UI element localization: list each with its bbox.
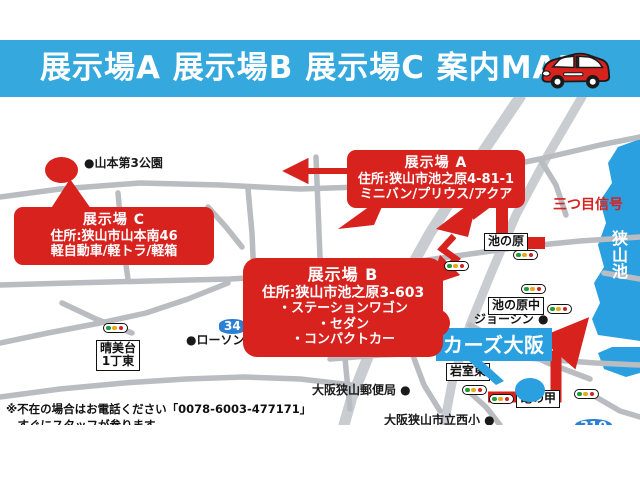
header-bar: 展示場A 展示場B 展示場C 案内MAP (0, 40, 640, 97)
red-car-icon (536, 48, 612, 90)
callout-exhibition-a[interactable]: 展示場 A 住所:狭山市池之原4-81-1 ミニバン/プリウス/アクア (347, 150, 525, 208)
callout-b-item-2: ・コンパクトカー (253, 332, 433, 347)
footer-note: ※不在の場合はお電話ください「0078-6003-477171」 すぐにスタッフ… (6, 402, 311, 425)
traffic-signal-harumidai (103, 323, 128, 333)
callout-exhibition-b[interactable]: 展示場 B 住所:狭山市池之原3-603 ・ステーションワゴン ・セダン ・コン… (243, 258, 443, 357)
traffic-signal-ikenohara (513, 250, 538, 260)
cars-osaka-pointer (460, 345, 530, 387)
harumidai-line-2: 1丁東 (102, 354, 134, 368)
label-harumidai-1cho-higashi: 晴美台 1丁東 (96, 340, 140, 371)
callout-a-title: 展示場 A (357, 155, 515, 172)
note-line-1: ※不在の場合はお電話ください「0078-6003-477171」 (6, 402, 311, 416)
label-post-office: 大阪狭山郵便局 ● (312, 384, 411, 397)
traffic-signal-joshin (547, 304, 572, 314)
label-yamamoto-park: ●山本第3公園 (84, 157, 163, 170)
callout-c-title: 展示場 C (24, 212, 204, 229)
harumidai-line-1: 晴美台 (100, 341, 136, 355)
map-canvas: 展示場 A 住所:狭山市池之原4-81-1 ミニバン/プリウス/アクア 展示場 … (0, 97, 640, 425)
callout-a-address: 住所:狭山市池之原4-81-1 (357, 172, 515, 187)
callout-b-title: 展示場 B (253, 266, 433, 285)
label-sayamaike: 狭山池 (607, 231, 633, 281)
callout-c-address: 住所:狭山市山本南46 (24, 229, 204, 244)
label-ikenohara: 池の原 (484, 233, 528, 251)
label-third-signal: 三つ目信号 (553, 194, 623, 214)
label-west-elementary: 大阪狭山市立西小 ● (384, 414, 495, 425)
callout-b-address: 住所:狭山市池之原3-603 (253, 285, 433, 302)
label-lawson: ●ローソン (186, 334, 244, 347)
poster-content: 展示場A 展示場B 展示場C 案内MAP (0, 40, 640, 425)
callout-a-item-0: ミニバン/プリウス/アクア (357, 187, 515, 202)
traffic-signal-iwamuro (489, 394, 514, 404)
traffic-signal-kamenoko (574, 389, 599, 399)
label-ikenohara-naka: 池の原中 (488, 297, 544, 315)
traffic-signal-ikenohara-naka (521, 284, 546, 294)
callout-c-item-0: 軽自動車/軽トラ/軽箱 (24, 244, 204, 259)
page-title: 展示場A 展示場B 展示場C 案内MAP (40, 47, 581, 90)
callout-b-item-1: ・セダン (253, 317, 433, 332)
callout-b-item-0: ・ステーションワゴン (253, 301, 433, 316)
traffic-signal-mid (444, 261, 469, 271)
callout-exhibition-c[interactable]: 展示場 C 住所:狭山市山本南46 軽自動車/軽トラ/軽箱 (14, 207, 214, 265)
poster-root: 展示場A 展示場B 展示場C 案内MAP (0, 0, 640, 480)
note-line-2: すぐにスタッフが参ります。 (6, 418, 166, 425)
